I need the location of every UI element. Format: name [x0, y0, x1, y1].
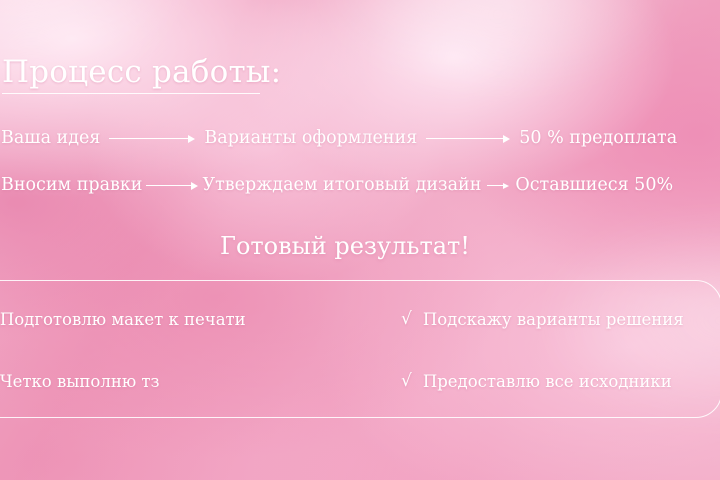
- page-title-text: Процесс работы:: [2, 56, 281, 89]
- slide-content: Процесс работы: Ваша идея Варианты оформ…: [0, 0, 720, 480]
- page-title: Процесс работы:: [2, 56, 281, 94]
- benefit-label: Четко выполню тз: [0, 372, 160, 391]
- short-arrow-icon: [487, 180, 509, 192]
- title-underline-rule: [2, 93, 260, 94]
- process-step-1: Ваша идея: [1, 130, 100, 148]
- check-icon: √: [401, 373, 412, 390]
- process-flow-row-1: Ваша идея Варианты оформления 50 % предо…: [1, 130, 720, 148]
- list-item: √ Подскажу варианты решения: [401, 310, 720, 329]
- slide-canvas: Процесс работы: Ваша идея Варианты оформ…: [0, 0, 720, 480]
- process-step-3: 50 % предоплата: [519, 130, 677, 148]
- benefit-label: Предоставлю все исходники: [423, 372, 672, 391]
- list-item: √ Подготовлю макет к печати: [0, 310, 386, 329]
- result-headline: Готовый результат!: [0, 232, 690, 260]
- process-flow-row-2: Вносим правки Утверждаем итоговый дизайн…: [1, 177, 720, 195]
- check-icon: √: [401, 311, 412, 328]
- long-arrow-icon: [146, 180, 198, 192]
- process-step-5: Утверждаем итоговый дизайн: [202, 177, 481, 195]
- long-arrow-icon: [426, 133, 510, 145]
- benefits-list: √ Подготовлю макет к печати √ Подскажу в…: [0, 288, 720, 412]
- list-item: √ Четко выполню тз: [0, 372, 386, 391]
- benefit-label: Подскажу варианты решения: [423, 310, 684, 329]
- benefit-label: Подготовлю макет к печати: [0, 310, 246, 329]
- process-step-2: Варианты оформления: [204, 130, 417, 148]
- list-item: √ Предоставлю все исходники: [401, 372, 720, 391]
- process-step-4: Вносим правки: [1, 177, 142, 195]
- process-step-6: Оставшиеся 50%: [515, 177, 673, 195]
- long-arrow-icon: [109, 133, 195, 145]
